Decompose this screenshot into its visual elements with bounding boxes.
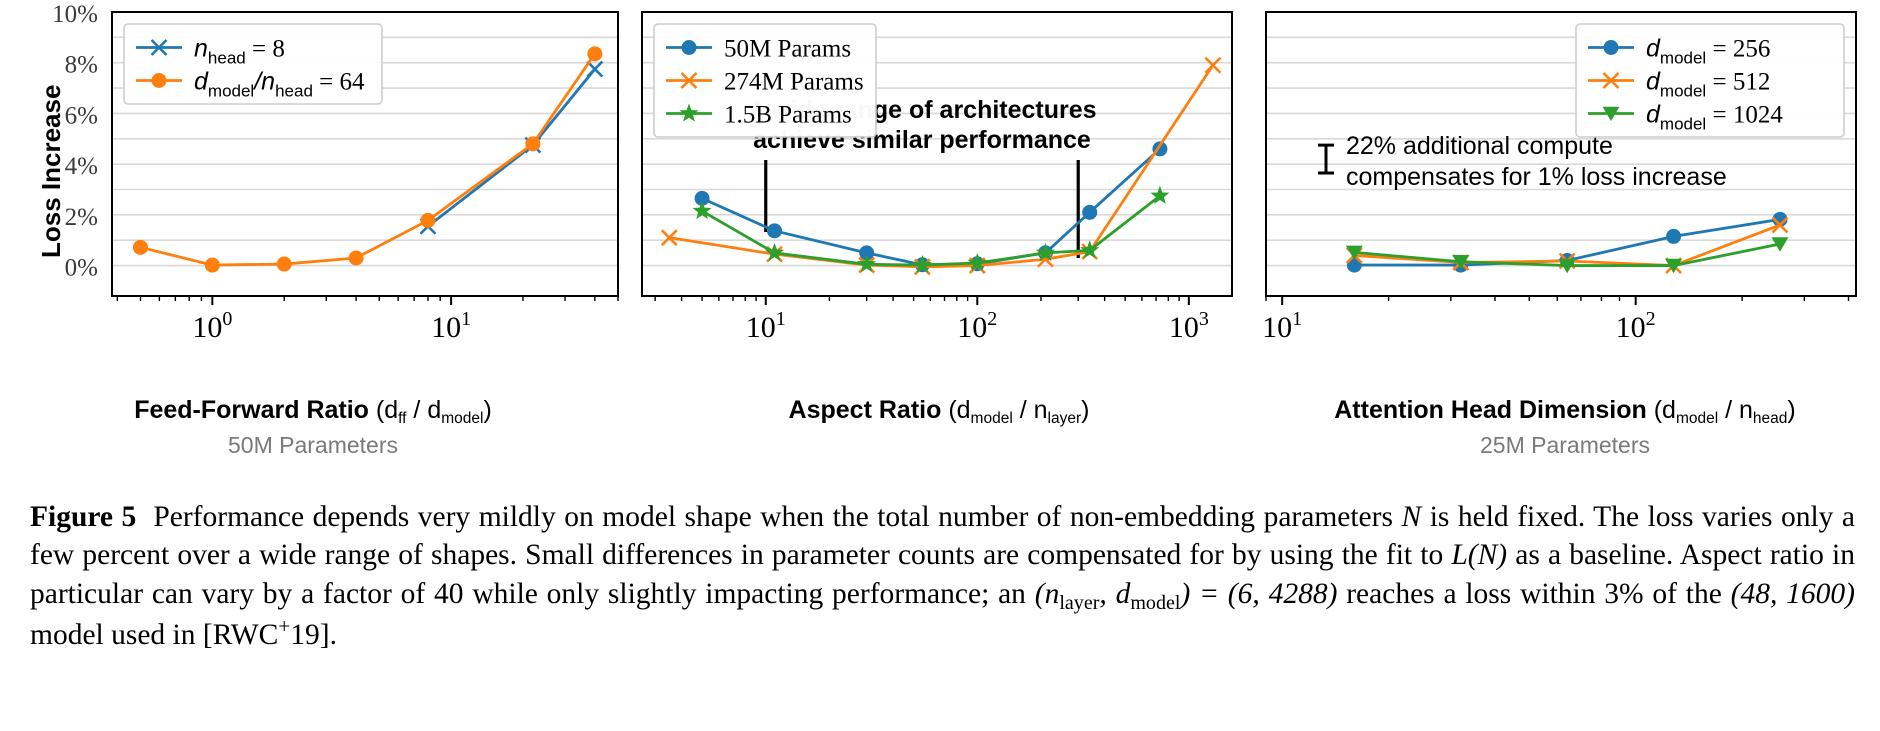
caption-p5: model used in [RWC	[30, 619, 278, 651]
y-tick-label: 2%	[65, 204, 98, 231]
chart-svg-aspect-ratio: 101102103A wide range of architecturesac…	[626, 0, 1252, 400]
data-point-marker	[1666, 229, 1681, 244]
chart-panel-aspect-ratio: 101102103A wide range of architecturesac…	[626, 0, 1252, 400]
caption-p1: Performance depends very mildly on model…	[153, 501, 1401, 533]
figure-caption: Figure 5 Performance depends very mildly…	[30, 498, 1855, 655]
data-point-marker	[349, 250, 364, 265]
chart-svg-feed-forward-ratio: 0%2%4%6%8%10%100101nhead = 8dmodel/nhead…	[0, 0, 626, 400]
x-axis-title-block-2: Aspect Ratio (dmodel / nlayer)	[626, 396, 1252, 432]
x-tick-label: 101	[431, 308, 471, 344]
series-2	[693, 186, 1170, 273]
data-point-marker	[277, 257, 292, 272]
x-tick-label: 103	[1169, 308, 1209, 344]
data-point-marker	[1082, 205, 1097, 220]
data-point-marker	[205, 258, 220, 273]
y-tick-label: 0%	[65, 255, 98, 282]
legend-label: 1.5B Params	[724, 102, 852, 129]
chart-panel-attention-head-dimension: 10110222% additional computecompensates …	[1252, 0, 1878, 400]
x-axis-subtitle-3: 25M Parameters	[1252, 432, 1878, 458]
caption-citation-sup: +	[278, 614, 290, 638]
errorbar-label-line-2: compensates for 1% loss increase	[1346, 163, 1727, 191]
y-tick-label: 10%	[52, 1, 98, 28]
x-axis-subtitle-1: 50M Parameters	[0, 432, 626, 458]
data-point-marker	[765, 243, 784, 261]
chart-legend: dmodel = 256dmodel = 512dmodel = 1024	[1576, 24, 1844, 137]
chart-legend: nhead = 8dmodel/nhead = 64	[124, 24, 382, 104]
legend-label: 50M Params	[724, 36, 851, 63]
x-tick-label: 100	[192, 308, 232, 344]
y-axis-label: Loss Increase	[36, 85, 67, 258]
data-point-marker	[1604, 40, 1619, 55]
data-point-marker	[587, 46, 602, 61]
y-tick-label: 4%	[65, 153, 98, 180]
x-tick-label: 101	[746, 308, 786, 344]
caption-p4: reaches a loss within 3% of the	[1337, 578, 1730, 610]
caption-math-ln: L(N)	[1451, 539, 1507, 571]
errorbar-label-line-1: 22% additional compute	[1346, 132, 1613, 160]
y-tick-label: 8%	[65, 52, 98, 79]
x-tick-label: 102	[957, 308, 997, 344]
caption-math-n: N	[1401, 501, 1421, 533]
figure-label: Figure 5	[30, 501, 136, 533]
caption-p6: 19].	[290, 619, 337, 651]
x-tick-label: 101	[1262, 308, 1302, 344]
x-axis-title-2: Aspect Ratio (dmodel / nlayer)	[626, 396, 1252, 425]
figure-5-root: 0%2%4%6%8%10%100101nhead = 8dmodel/nhead…	[0, 0, 1880, 731]
chart-panels-row: 0%2%4%6%8%10%100101nhead = 8dmodel/nhead…	[0, 0, 1880, 400]
data-point-marker	[682, 40, 697, 55]
x-axis-title-block-1: Feed-Forward Ratio (dff / dmodel) 50M Pa…	[0, 396, 626, 458]
caption-math-baseline: (48, 1600)	[1731, 578, 1855, 610]
x-tick-label: 102	[1616, 308, 1656, 344]
chart-legend: 50M Params274M Params1.5B Params	[654, 24, 876, 137]
data-point-marker	[152, 73, 167, 88]
x-axis-title-block-3: Attention Head Dimension (dmodel / nhead…	[1252, 396, 1878, 458]
data-point-marker	[420, 213, 435, 228]
legend-label: 274M Params	[724, 69, 864, 96]
data-point-marker	[133, 240, 148, 255]
data-point-marker	[525, 136, 540, 151]
x-axis-title-3: Attention Head Dimension (dmodel / nhead…	[1252, 396, 1878, 425]
data-point-marker	[767, 223, 782, 238]
x-axis-title-1: Feed-Forward Ratio (dff / dmodel)	[0, 396, 626, 425]
data-point-marker	[1205, 58, 1220, 73]
chart-panel-feed-forward-ratio: 0%2%4%6%8%10%100101nhead = 8dmodel/nhead…	[0, 0, 626, 400]
caption-math-shape: (nlayer, dmodel) = (6, 4288)	[1035, 578, 1338, 610]
y-tick-label: 6%	[65, 102, 98, 129]
chart-svg-attention-head-dimension: 10110222% additional computecompensates …	[1252, 0, 1878, 400]
